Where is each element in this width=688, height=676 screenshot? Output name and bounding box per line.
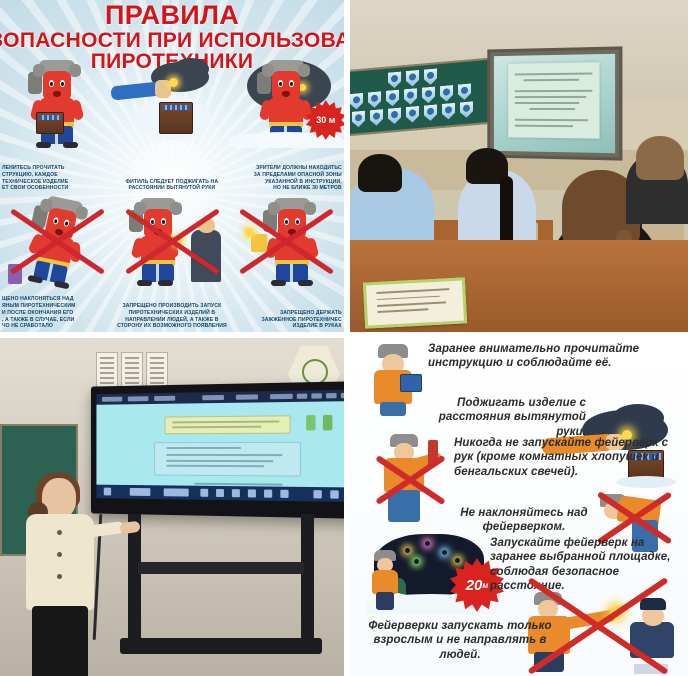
prohibition-x-icon: [235, 200, 338, 282]
whiteboard-screen[interactable]: [96, 390, 344, 502]
poster-cell-do-not-hold-in-hands: ЗАПРЕЩЕНО ДЕРЖАТЬ ЗАЖЖЕННОЕ ПИРОТЕХНИЧЕС…: [229, 194, 344, 332]
mascot-head: [272, 71, 300, 101]
status-light-green-2: [323, 415, 332, 431]
smoke-cloud-2: [612, 404, 664, 432]
classroom-photo-panel: [350, 0, 688, 332]
poster-cell-safe-distance: 30 м ЗРИТЕЛИ ДОЛЖНЫ НАХОДИТЬС ЗА ПРЕДЕЛА…: [229, 56, 344, 194]
infographic-rule-6: Фейерверки запускать только взрослым и н…: [364, 619, 556, 662]
distance-badge-30m-label: 30 м: [316, 115, 335, 125]
teacher-whiteboard-photo-panel: [0, 338, 344, 676]
blue-sleeve: [110, 81, 161, 100]
poster-caption-4: ЩЕНО НАКЛОНЯТЬСЯ НАД ЯНЫМ ПИРОТЕХНИЧЕСКИ…: [2, 296, 113, 330]
presentation-slide: [508, 62, 600, 139]
projector-screen-surface: [494, 54, 615, 153]
illustration-holding-lit-firework-prohibited: [229, 196, 344, 286]
student-left-hair: [358, 154, 402, 192]
status-light-green: [306, 415, 315, 430]
instruction-leaflet-icon: [400, 374, 422, 392]
poster-caption-2: ФИТИЛЬ СЛЕДУЕТ ПОДЖИГАТЬ НА РАССТОЯНИИ В…: [117, 179, 228, 192]
mascot-eye-left: [49, 80, 54, 87]
spark-icon: [169, 78, 178, 87]
poster-cell-read-instructions: ЛЕНИТЕСЬ ПРОЧИТАТЬ СТРУКЦИЮ, КАЖДОЕ ТЕХН…: [0, 56, 115, 194]
slide-body-card: [155, 441, 301, 476]
mascot-boot-left: [36, 142, 51, 148]
poster-caption-6: ЗАПРЕЩЕНО ДЕРЖАТЬ ЗАЖЖЕННОЕ ПИРОТЕХНИЧЕС…: [231, 310, 342, 330]
prohibition-x-icon: [121, 200, 224, 282]
illustration-mascot-reading: [0, 58, 115, 148]
infographic-rule-4: Не наклоняйтесь над фейерверком.: [450, 506, 598, 535]
mascot-eye-right: [289, 80, 294, 87]
fireworks-infographic-panel: Заранее внимательно прочитайте инструкци…: [350, 338, 688, 676]
student-mid-long-hair: [500, 176, 513, 248]
windows-taskbar[interactable]: [96, 485, 344, 502]
figure-legs: [380, 402, 406, 416]
orange-coat: [372, 570, 398, 594]
illustration-hand-lighting-fuse: [115, 58, 230, 148]
poster-title-line2: ЗОПАСНОСТИ ПРИ ИСПОЛЬЗОВАНИ: [0, 30, 344, 51]
student-right-hair: [636, 136, 684, 180]
poster-caption-1: ЛЕНИТЕСЬ ПРОЧИТАТЬ СТРУКЦИЮ, КАЖДОЕ ТЕХН…: [2, 165, 113, 192]
slide-highlight-card: [164, 415, 290, 434]
prohibition-x-icon: [374, 436, 446, 524]
mascot-mouth: [53, 91, 61, 97]
poster-cell-light-at-arms-length: ФИТИЛЬ СЛЕДУЕТ ПОДЖИГАТЬ НА РАССТОЯНИИ В…: [115, 56, 230, 194]
teacher-figure: [22, 478, 96, 676]
mascot-eye-right: [60, 80, 65, 87]
mascot-eye-left: [278, 80, 283, 87]
prohibition-x-icon: [6, 200, 109, 282]
teacher-skirt: [32, 606, 88, 676]
distance-badge-20m-value: 20: [466, 577, 483, 594]
illustration-bending-over-prohibited: [0, 196, 115, 286]
poster-row-bottom: ЩЕНО НАКЛОНЯТЬСЯ НАД ЯНЫМ ПИРОТЕХНИЧЕСКИ…: [0, 194, 344, 332]
illustration-launch-site-distance: 20м: [366, 534, 496, 614]
poster-rule-grid: ЛЕНИТЕСЬ ПРОЧИТАТЬ СТРУКЦИЮ, КАЖДОЕ ТЕХН…: [0, 56, 344, 332]
illustration-aiming-at-people-prohibited: [115, 196, 230, 286]
poster-row-top: ЛЕНИТЕСЬ ПРОЧИТАТЬ СТРУКЦИЮ, КАЖДОЕ ТЕХН…: [0, 56, 344, 194]
mascot-figure: [30, 60, 84, 148]
classroom-projector-screen: [487, 46, 622, 160]
illustration-firework-from-hands-prohibited: [372, 434, 448, 526]
smoke-cloud-2: [173, 58, 209, 80]
firework-cube-icon: [159, 102, 193, 134]
award-certificate: [363, 277, 467, 328]
mascot-boot-right: [63, 142, 78, 148]
infographic-rule-3: Никогда не запускайте фейерверк с рук (к…: [454, 436, 680, 479]
photo-collage: ПРАВИЛА ЗОПАСНОСТИ ПРИ ИСПОЛЬЗОВАНИ ПИРО…: [0, 0, 688, 676]
firework-box-icon: [36, 112, 64, 134]
pennant-flag-row: [350, 64, 484, 130]
interactive-whiteboard[interactable]: [91, 381, 344, 519]
infographic-rule-2: Поджигать изделие с расстояния вытянутой…: [406, 396, 586, 439]
infographic-rule-1: Заранее внимательно прочитайте инструкци…: [428, 342, 674, 371]
poster-title-line1: ПРАВИЛА: [0, 2, 344, 30]
poster-cell-do-not-bend-over: ЩЕНО НАКЛОНЯТЬСЯ НАД ЯНЫМ ПИРОТЕХНИЧЕСКИ…: [0, 194, 115, 332]
poster-caption-5: ЗАПРЕЩЕНО ПРОИЗВОДИТЬ ЗАПУСК ПИРОТЕХНИЧЕ…: [117, 303, 228, 330]
figure-legs: [376, 592, 394, 610]
whiteboard-stand: [128, 514, 314, 654]
mascot-head: [43, 71, 71, 101]
safety-poster-panel: ПРАВИЛА ЗОПАСНОСТИ ПРИ ИСПОЛЬЗОВАНИ ПИРО…: [0, 0, 344, 332]
classroom-notice-board: [350, 58, 490, 137]
poster-caption-3: ЗРИТЕЛИ ДОЛЖНЫ НАХОДИТЬС ЗА ПРЕДЕЛАМИ ОП…: [231, 165, 342, 192]
mascot-mouth: [282, 91, 290, 97]
poster-cell-do-not-aim-at-people: ЗАПРЕЩЕНО ПРОИЗВОДИТЬ ЗАПУСК ПИРОТЕХНИЧЕ…: [115, 194, 230, 332]
illustration-spectator-distance: 30 м: [229, 58, 344, 148]
distance-badge-20m-unit: м: [482, 581, 488, 590]
whiteboard-toolbar[interactable]: [96, 390, 344, 405]
spectator-figure: [366, 550, 402, 610]
